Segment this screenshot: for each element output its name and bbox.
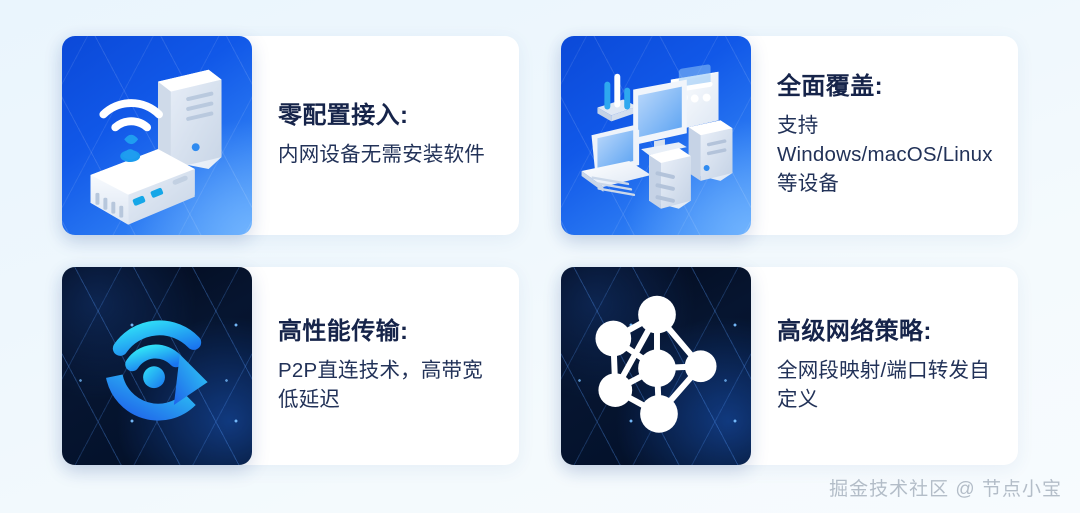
card-description: 支持Windows/macOS/Linux等设备 bbox=[777, 111, 1000, 198]
feature-card-grid: 零配置接入: 内网设备无需安装软件 bbox=[0, 0, 1080, 513]
feature-card-zero-config[interactable]: 零配置接入: 内网设备无需安装软件 bbox=[62, 36, 519, 235]
card-description: P2P直连技术，高带宽低延迟 bbox=[278, 356, 501, 414]
text-column-full-coverage: 全面覆盖: 支持Windows/macOS/Linux等设备 bbox=[751, 36, 1018, 235]
card-title: 高级网络策略: bbox=[777, 317, 1000, 347]
icon-panel-full-coverage bbox=[561, 36, 751, 235]
monitor-device bbox=[633, 80, 687, 155]
icon-panel-advanced-policy bbox=[561, 267, 751, 466]
wifi-dot bbox=[124, 135, 138, 144]
router-server-wifi-illustration bbox=[62, 36, 252, 235]
icon-panel-high-performance bbox=[62, 267, 252, 466]
text-column-zero-config: 零配置接入: 内网设备无需安装软件 bbox=[252, 36, 519, 235]
card-title: 零配置接入: bbox=[278, 101, 501, 131]
feature-card-high-performance[interactable]: 高性能传输: P2P直连技术，高带宽低延迟 bbox=[62, 267, 519, 466]
text-column-advanced-policy: 高级网络策略: 全网段映射/端口转发自定义 bbox=[751, 267, 1018, 466]
multi-device-illustration bbox=[561, 36, 751, 235]
card-title: 高性能传输: bbox=[278, 317, 501, 347]
server-tower bbox=[158, 70, 222, 169]
feature-card-full-coverage[interactable]: 全面覆盖: 支持Windows/macOS/Linux等设备 bbox=[561, 36, 1018, 235]
wifi-waves-icon bbox=[103, 103, 159, 127]
wifi-center-dot bbox=[143, 366, 165, 388]
network-topology-icon bbox=[561, 267, 751, 466]
wifi-refresh-arrow-icon bbox=[62, 267, 252, 466]
card-title: 全面覆盖: bbox=[777, 72, 1000, 102]
card-description: 内网设备无需安装软件 bbox=[278, 140, 501, 169]
feature-card-advanced-policy[interactable]: 高级网络策略: 全网段映射/端口转发自定义 bbox=[561, 267, 1018, 466]
card-description: 全网段映射/端口转发自定义 bbox=[777, 356, 1000, 414]
server-tower-right bbox=[689, 120, 733, 181]
bar-chart-device bbox=[597, 74, 637, 122]
icon-panel-zero-config bbox=[62, 36, 252, 235]
text-column-high-performance: 高性能传输: P2P直连技术，高带宽低延迟 bbox=[252, 267, 519, 466]
server-tower-center bbox=[649, 148, 691, 209]
